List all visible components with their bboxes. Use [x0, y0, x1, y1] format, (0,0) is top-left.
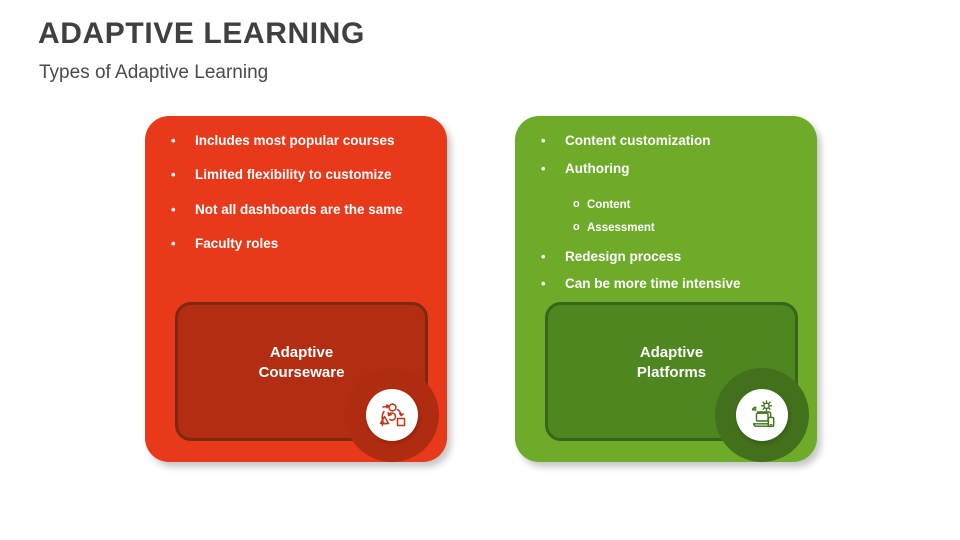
bullet-marker-icon: • — [541, 249, 565, 265]
bullet-marker-icon: • — [541, 161, 565, 177]
bullet-marker-icon: • — [541, 276, 565, 292]
list-item: • Redesign process — [541, 249, 803, 266]
bullet-marker-icon: • — [171, 133, 195, 149]
bullet-text: Can be more time intensive — [565, 276, 803, 293]
bullet-marker-icon: • — [171, 202, 195, 218]
card-adaptive-courseware[interactable]: • Includes most popular courses • Limite… — [145, 116, 447, 462]
bullet-marker-icon: • — [541, 133, 565, 149]
list-item: • Includes most popular courses — [171, 133, 433, 150]
list-item: • Not all dashboards are the same — [171, 202, 433, 219]
devices-gear-icon — [745, 398, 779, 432]
shapes-cycle-icon — [375, 398, 409, 432]
badge-devices-gear[interactable] — [736, 389, 788, 441]
bullet-text: Authoring — [565, 161, 803, 178]
page-title: ADAPTIVE LEARNING — [38, 17, 365, 51]
list-item: • Can be more time intensive — [541, 276, 803, 293]
sub-bullet-text: Content — [587, 198, 803, 212]
badge-shapes-cycle[interactable] — [366, 389, 418, 441]
sub-list-item: o Content — [541, 198, 803, 212]
bullet-list-platforms: • Content customization • Authoring o Co… — [541, 133, 803, 304]
bullet-marker-icon: • — [171, 236, 195, 252]
sub-bullet-marker-icon: o — [573, 198, 587, 212]
bullet-list-courseware: • Includes most popular courses • Limite… — [171, 133, 433, 271]
list-item: • Faculty roles — [171, 236, 433, 253]
bullet-text: Faculty roles — [195, 236, 433, 253]
bullet-marker-icon: • — [171, 167, 195, 183]
sub-bullet-marker-icon: o — [573, 221, 587, 235]
bullet-text: Redesign process — [565, 249, 803, 266]
bullet-text: Includes most popular courses — [195, 133, 433, 150]
bullet-text: Not all dashboards are the same — [195, 202, 433, 219]
bullet-text: Content customization — [565, 133, 803, 150]
list-item: • Content customization — [541, 133, 803, 150]
list-item: • Limited flexibility to customize — [171, 167, 433, 184]
spacer — [541, 189, 803, 198]
bullet-text: Limited flexibility to customize — [195, 167, 433, 184]
sub-list-item: o Assessment — [541, 221, 803, 235]
sub-bullet-text: Assessment — [587, 221, 803, 235]
list-item: • Authoring — [541, 161, 803, 178]
slide-canvas: ADAPTIVE LEARNING Types of Adaptive Lear… — [0, 0, 960, 540]
card-adaptive-platforms[interactable]: • Content customization • Authoring o Co… — [515, 116, 817, 462]
page-subtitle: Types of Adaptive Learning — [39, 62, 268, 84]
